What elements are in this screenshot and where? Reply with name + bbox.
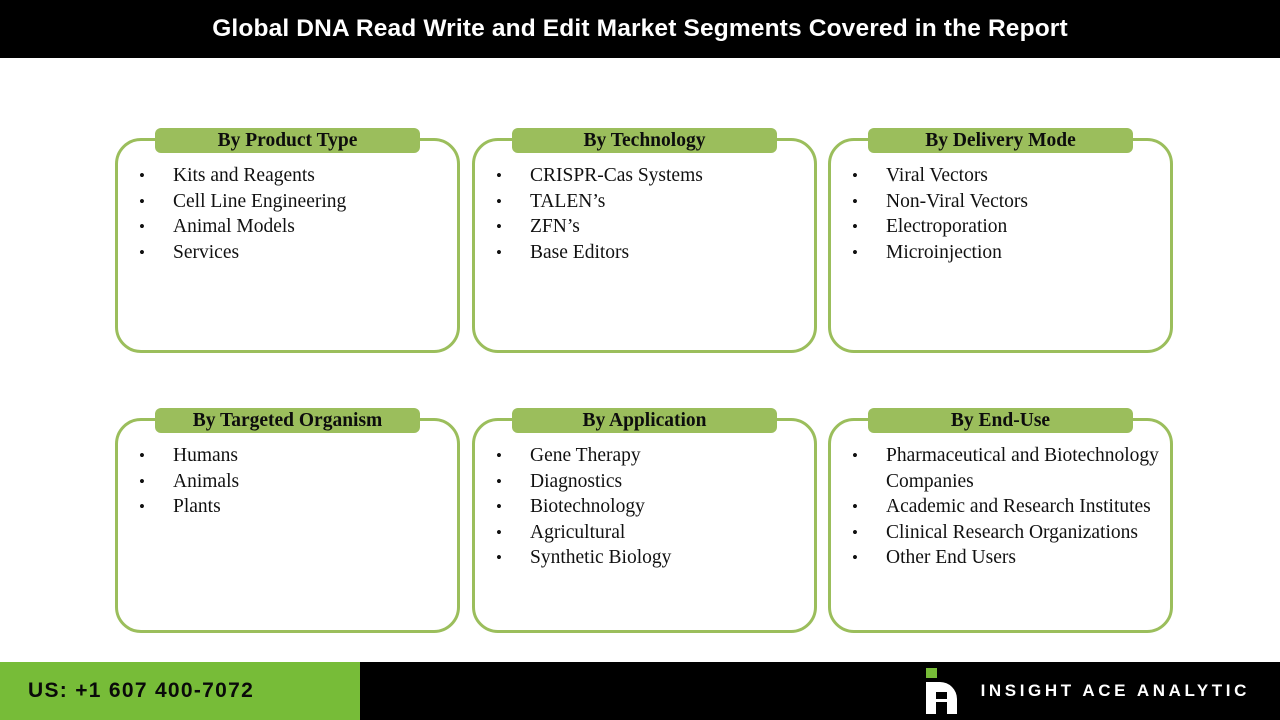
segment-card-title: By Technology	[584, 131, 706, 151]
list-item: ZFN’s	[475, 214, 804, 240]
list-item: Viral Vectors	[831, 163, 1160, 189]
list-item: Kits and Reagents	[118, 163, 447, 189]
footer-brand-block: INSIGHT ACE ANALYTIC	[360, 662, 1280, 720]
segment-card-header: By Delivery Mode	[868, 128, 1133, 153]
segment-card-title: By End-Use	[951, 411, 1050, 431]
segment-card-title: By Targeted Organism	[193, 411, 383, 431]
list-item: Services	[118, 240, 447, 266]
list-item: Base Editors	[475, 240, 804, 266]
list-item: Pharmaceutical and Biotechnology Compani…	[831, 443, 1160, 494]
list-item: Clinical Research Organizations	[831, 520, 1160, 546]
footer-bar: US: +1 607 400-7072 INSIGHT ACE ANALYTIC	[0, 662, 1280, 720]
brand-name-text: INSIGHT ACE ANALYTIC	[981, 681, 1250, 701]
list-item: Agricultural	[475, 520, 804, 546]
list-item: TALEN’s	[475, 189, 804, 215]
segment-card-title: By Application	[582, 411, 706, 431]
list-item: Animals	[118, 469, 447, 495]
list-item: Other End Users	[831, 545, 1160, 571]
segment-item-list: CRISPR-Cas Systems TALEN’s ZFN’s Base Ed…	[475, 163, 804, 265]
segment-card-by-targeted-organism: By Targeted Organism Humans Animals Plan…	[115, 418, 460, 633]
list-item: Biotechnology	[475, 494, 804, 520]
segment-card-header: By Technology	[512, 128, 777, 153]
segment-item-list: Gene Therapy Diagnostics Biotechnology A…	[475, 443, 804, 571]
segment-item-list: Pharmaceutical and Biotechnology Compani…	[831, 443, 1160, 571]
list-item: Cell Line Engineering	[118, 189, 447, 215]
list-item: Gene Therapy	[475, 443, 804, 469]
segment-card-by-delivery-mode: By Delivery Mode Viral Vectors Non-Viral…	[828, 138, 1173, 353]
list-item: Humans	[118, 443, 447, 469]
list-item: Academic and Research Institutes	[831, 494, 1160, 520]
list-item: Plants	[118, 494, 447, 520]
list-item: Microinjection	[831, 240, 1160, 266]
page-title: Global DNA Read Write and Edit Market Se…	[212, 15, 1068, 43]
list-item: Non-Viral Vectors	[831, 189, 1160, 215]
list-item: Diagnostics	[475, 469, 804, 495]
segment-item-list: Viral Vectors Non-Viral Vectors Electrop…	[831, 163, 1160, 265]
insight-ace-a-logo-icon	[921, 668, 959, 714]
list-item: Electroporation	[831, 214, 1160, 240]
footer-contact-block: US: +1 607 400-7072	[0, 662, 360, 720]
segment-item-list: Kits and Reagents Cell Line Engineering …	[118, 163, 447, 265]
list-item: CRISPR-Cas Systems	[475, 163, 804, 189]
segment-card-header: By End-Use	[868, 408, 1133, 433]
segment-card-by-product-type: By Product Type Kits and Reagents Cell L…	[115, 138, 460, 353]
page-title-bar: Global DNA Read Write and Edit Market Se…	[0, 0, 1280, 58]
segment-card-by-technology: By Technology CRISPR-Cas Systems TALEN’s…	[472, 138, 817, 353]
list-item: Synthetic Biology	[475, 545, 804, 571]
segment-card-header: By Targeted Organism	[155, 408, 420, 433]
segment-card-by-application: By Application Gene Therapy Diagnostics …	[472, 418, 817, 633]
footer-phone-number[interactable]: US: +1 607 400-7072	[28, 679, 254, 703]
list-item: Animal Models	[118, 214, 447, 240]
segment-card-header: By Application	[512, 408, 777, 433]
segments-board: By Product Type Kits and Reagents Cell L…	[0, 58, 1280, 662]
segment-card-by-end-use: By End-Use Pharmaceutical and Biotechnol…	[828, 418, 1173, 633]
brand-lockup: INSIGHT ACE ANALYTIC	[921, 662, 1250, 720]
segment-card-title: By Delivery Mode	[925, 131, 1076, 151]
segment-card-title: By Product Type	[218, 131, 358, 151]
segment-card-header: By Product Type	[155, 128, 420, 153]
segment-item-list: Humans Animals Plants	[118, 443, 447, 520]
